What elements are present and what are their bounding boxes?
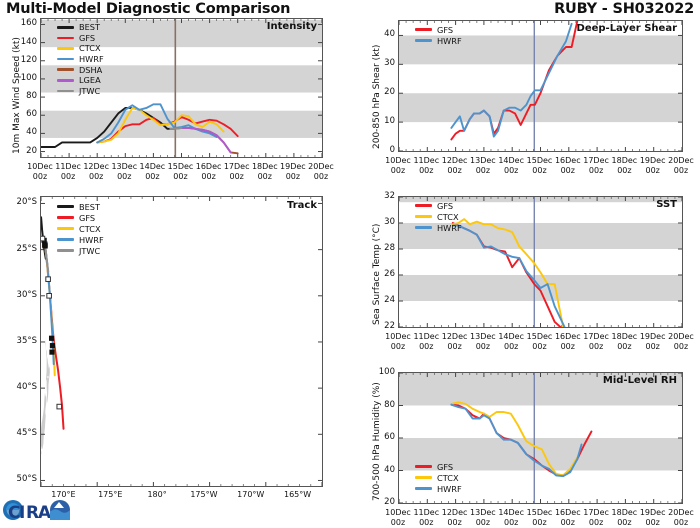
y-tick-label: 60 xyxy=(364,432,395,442)
legend-item-gfs: GFS xyxy=(415,24,462,35)
legend-swatch-gfs xyxy=(57,216,74,219)
svg-text:A: A xyxy=(38,503,52,523)
legend-label-ctcx: CTCX xyxy=(79,224,101,234)
x-tick-label: 175°W xyxy=(184,490,224,500)
y-tick-label: 20°S xyxy=(4,197,37,207)
legend-item-dsha: DSHA xyxy=(57,64,104,75)
legend-swatch-hwrf xyxy=(415,226,432,229)
y-tick-label: 50°S xyxy=(4,474,37,484)
legend-swatch-ctcx xyxy=(57,47,74,50)
legend-label-gfs: GFS xyxy=(79,213,95,223)
cira-logo: C I R A xyxy=(2,496,110,523)
y-tick-label: 40 xyxy=(364,29,395,39)
y-tick-label: 30 xyxy=(364,217,395,227)
legend-swatch-gfs xyxy=(57,37,74,40)
legend-item-ctcx: CTCX xyxy=(57,43,104,54)
legend-item-gfs: GFS xyxy=(415,461,462,472)
legend-label-dsha: DSHA xyxy=(79,65,102,75)
shear-plot-area[interactable]: Deep-Layer Shear GFSHWRF xyxy=(398,20,683,152)
legend-swatch-gfs xyxy=(415,28,432,31)
x-tick-label: 20Dec00z xyxy=(663,332,699,352)
legend-label-hwrf: HWRF xyxy=(79,54,104,64)
y-tick-label: 140 xyxy=(6,37,37,47)
shear-legend: GFSHWRF xyxy=(415,24,462,46)
rh-panel-tag: Mid-Level RH xyxy=(603,375,677,386)
legend-swatch-best xyxy=(57,26,74,29)
legend-item-gfs: GFS xyxy=(415,200,462,211)
legend-swatch-hwrf xyxy=(57,238,74,241)
sst-plot-area[interactable]: SST GFSCTCXHWRF xyxy=(398,196,683,328)
storm-identifier: RUBY - SH032022 xyxy=(554,1,694,17)
legend-label-jtwc: JTWC xyxy=(79,86,100,96)
intensity-legend: BESTGFSCTCXHWRFDSHALGEAJTWC xyxy=(57,22,104,96)
legend-label-hwrf: HWRF xyxy=(437,36,462,46)
y-tick-label: 20 xyxy=(364,87,395,97)
y-tick-label: 60 xyxy=(6,109,37,119)
legend-label-gfs: GFS xyxy=(437,201,453,211)
legend-item-gfs: GFS xyxy=(57,212,104,223)
intensity-plot-area[interactable]: Intensity BESTGFSCTCXHWRFDSHALGEAJTWC xyxy=(40,18,323,158)
legend-swatch-hwrf xyxy=(415,487,432,490)
legend-swatch-gfs xyxy=(415,465,432,468)
legend-item-hwrf: HWRF xyxy=(57,234,104,245)
legend-swatch-hwrf xyxy=(57,58,74,61)
legend-swatch-gfs xyxy=(415,204,432,207)
track-plot-area[interactable]: Track BESTGFSCTCXHWRFJTWC xyxy=(40,196,323,487)
legend-label-best: BEST xyxy=(79,202,100,212)
legend-label-ctcx: CTCX xyxy=(437,212,459,222)
legend-swatch-hwrf xyxy=(415,39,432,42)
legend-item-hwrf: HWRF xyxy=(415,483,462,494)
track-legend: BESTGFSCTCXHWRFJTWC xyxy=(57,201,104,256)
legend-label-gfs: GFS xyxy=(437,462,453,472)
page-title: Multi-Model Diagnostic Comparison xyxy=(6,1,290,17)
legend-item-hwrf: HWRF xyxy=(415,222,462,233)
y-tick-label: 32 xyxy=(364,191,395,201)
y-tick-label: 30°S xyxy=(4,290,37,300)
legend-item-hwrf: HWRF xyxy=(415,35,462,46)
y-tick-label: 26 xyxy=(364,269,395,279)
legend-label-best: BEST xyxy=(79,22,100,32)
legend-item-best: BEST xyxy=(57,201,104,212)
y-tick-label: 45°S xyxy=(4,428,37,438)
legend-label-jtwc: JTWC xyxy=(79,246,100,256)
legend-item-lgea: LGEA xyxy=(57,75,104,86)
legend-item-best: BEST xyxy=(57,22,104,33)
y-tick-label: 160 xyxy=(6,18,37,28)
legend-item-ctcx: CTCX xyxy=(57,223,104,234)
legend-item-ctcx: CTCX xyxy=(415,211,462,222)
x-tick-label: 165°W xyxy=(278,490,318,500)
legend-item-hwrf: HWRF xyxy=(57,54,104,65)
y-tick-label: 20 xyxy=(6,146,37,156)
x-tick-label: 20Dec00z xyxy=(303,162,339,182)
legend-label-hwrf: HWRF xyxy=(437,484,462,494)
rh-legend: GFSCTCXHWRF xyxy=(415,461,462,494)
y-tick-label: 100 xyxy=(6,73,37,83)
x-tick-label: 180° xyxy=(137,490,177,500)
y-tick-label: 80 xyxy=(364,400,395,410)
legend-swatch-ctcx xyxy=(415,215,432,218)
y-tick-label: 120 xyxy=(6,55,37,65)
x-tick-label: 170°W xyxy=(231,490,271,500)
y-tick-label: 35°S xyxy=(4,336,37,346)
legend-label-gfs: GFS xyxy=(437,25,453,35)
legend-label-ctcx: CTCX xyxy=(79,43,101,53)
sst-legend: GFSCTCXHWRF xyxy=(415,200,462,233)
legend-label-gfs: GFS xyxy=(79,33,95,43)
legend-item-jtwc: JTWC xyxy=(57,245,104,256)
legend-item-ctcx: CTCX xyxy=(415,472,462,483)
legend-label-ctcx: CTCX xyxy=(437,473,459,483)
x-tick-label: 20Dec00z xyxy=(663,156,699,176)
legend-label-hwrf: HWRF xyxy=(79,235,104,245)
y-tick-label: 40 xyxy=(6,127,37,137)
y-tick-label: 24 xyxy=(364,295,395,305)
legend-swatch-jtwc xyxy=(57,90,74,93)
y-tick-label: 20 xyxy=(364,497,395,507)
sst-panel-tag: SST xyxy=(656,199,677,210)
rh-plot-area[interactable]: Mid-Level RH GFSCTCXHWRF xyxy=(398,372,683,504)
y-tick-label: 28 xyxy=(364,243,395,253)
legend-swatch-ctcx xyxy=(57,227,74,230)
y-tick-label: 22 xyxy=(364,321,395,331)
legend-swatch-dsha xyxy=(57,68,74,71)
shear-panel-tag: Deep-Layer Shear xyxy=(577,23,677,34)
y-tick-label: 40 xyxy=(364,465,395,475)
y-tick-label: 0 xyxy=(364,145,395,155)
legend-swatch-lgea xyxy=(57,79,74,82)
y-tick-label: 10 xyxy=(364,116,395,126)
legend-label-lgea: LGEA xyxy=(79,75,101,85)
legend-label-hwrf: HWRF xyxy=(437,223,462,233)
x-tick-label: 20Dec00z xyxy=(663,508,699,528)
svg-text:I: I xyxy=(19,503,25,523)
legend-swatch-best xyxy=(57,205,74,208)
legend-swatch-ctcx xyxy=(415,476,432,479)
track-panel-tag: Track xyxy=(287,200,317,211)
intensity-panel-tag: Intensity xyxy=(267,21,317,32)
legend-item-gfs: GFS xyxy=(57,33,104,44)
legend-item-jtwc: JTWC xyxy=(57,86,104,97)
y-tick-label: 25°S xyxy=(4,244,37,254)
y-tick-label: 30 xyxy=(364,58,395,68)
y-tick-label: 100 xyxy=(364,367,395,377)
y-tick-label: 40°S xyxy=(4,382,37,392)
legend-swatch-jtwc xyxy=(57,249,74,252)
y-tick-label: 80 xyxy=(6,91,37,101)
